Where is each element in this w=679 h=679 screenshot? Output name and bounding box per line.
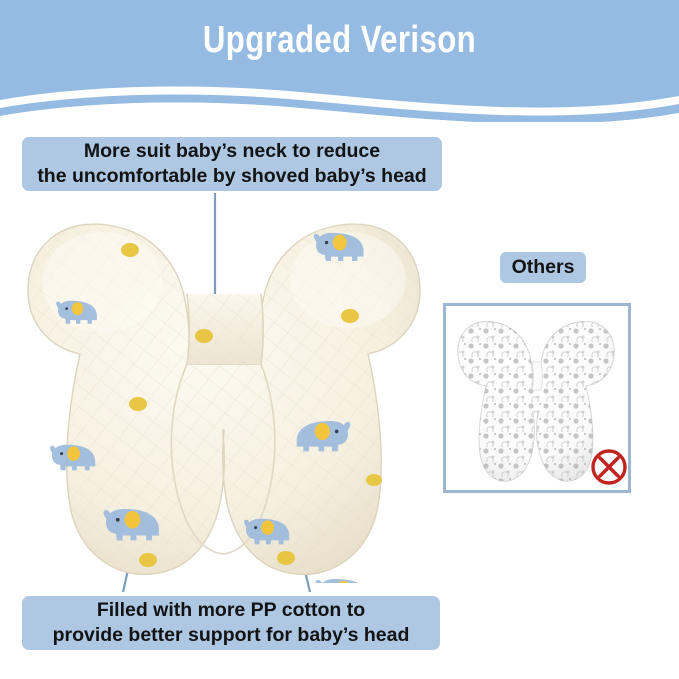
callout-bottom-line1: Filled with more PP cotton to: [97, 598, 365, 623]
red-x-circle-icon: [589, 447, 629, 487]
callout-pp-cotton: Filled with more PP cotton to provide be…: [22, 596, 440, 650]
infographic-canvas: Upgraded Verison: [0, 0, 679, 679]
callout-top-line1: More suit baby’s neck to reduce: [84, 139, 380, 164]
header-banner: Upgraded Verison: [0, 0, 679, 122]
callout-neck-support: More suit baby’s neck to reduce the unco…: [22, 137, 442, 191]
others-label-badge: Others: [500, 252, 586, 283]
main-product-image: [18, 208, 428, 583]
page-title: Upgraded Verison: [61, 18, 618, 62]
others-label-text: Others: [512, 256, 575, 279]
callout-bottom-line2: provide better support for baby’s head: [53, 623, 410, 648]
pillow-body: [28, 224, 420, 574]
callout-top-line2: the uncomfortable by shoved baby’s head: [37, 164, 426, 189]
